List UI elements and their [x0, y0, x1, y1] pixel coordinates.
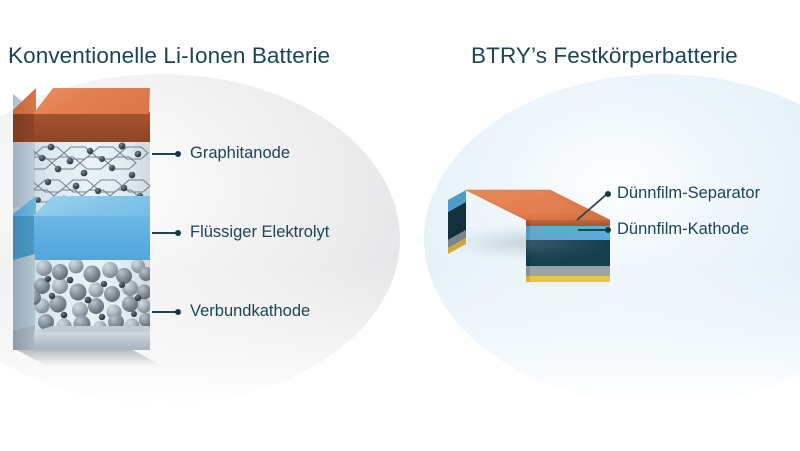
leader-dot-duennfilm-separator	[605, 191, 611, 197]
right-panel-title: BTRY’s Festkörperbatterie	[471, 43, 738, 69]
leader-line-duennfilm-kathode	[578, 229, 606, 231]
leader-dot-fluessiger-elektrolyt	[175, 230, 181, 236]
liquid-electrolyte-front-face	[34, 215, 150, 260]
liquid-electrolyte-side-face	[13, 209, 35, 260]
metal-base-top-face	[33, 326, 150, 332]
slide-canvas: Konventionelle Li-Ionen Batterie BTRY’s …	[0, 0, 800, 451]
substrate-edge-face	[526, 276, 610, 282]
graphite-anode-side-face	[13, 136, 35, 208]
callout-fluessiger-elektrolyt: Flüssiger Elektrolyt	[190, 223, 329, 242]
leader-line-graphitanode	[152, 153, 176, 155]
leader-dot-duennfilm-kathode	[605, 227, 611, 233]
metal-base-front-face	[34, 331, 150, 350]
callout-duennfilm-separator: Dünnfilm-Separator	[617, 184, 760, 203]
conventional-battery-illustration	[0, 0, 200, 320]
callout-graphitanode: Graphitanode	[190, 144, 290, 163]
leader-dot-verbundkathode	[175, 309, 181, 315]
leader-line-verbundkathode	[152, 311, 176, 313]
current-collector-top-face	[33, 88, 150, 114]
cathode-particles-icon	[34, 260, 150, 332]
callout-verbundkathode: Verbundkathode	[190, 302, 310, 321]
leader-dot-graphitanode	[175, 151, 181, 157]
current-collector-front-face	[34, 112, 150, 142]
metal-collector-face	[526, 266, 610, 276]
callout-duennfilm-kathode: Dünnfilm-Kathode	[617, 220, 749, 239]
slab-drop-shadow	[448, 226, 608, 260]
leader-line-fluessiger-elektrolyt	[152, 232, 176, 234]
liquid-electrolyte-top-face	[33, 196, 150, 216]
composite-cathode-layer	[34, 260, 150, 332]
composite-cathode-side-face	[13, 254, 35, 332]
